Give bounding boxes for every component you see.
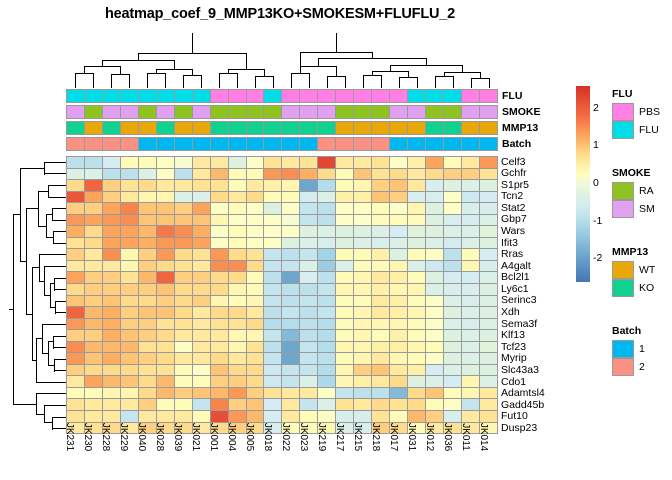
heatmap-cell <box>408 376 426 387</box>
heatmap-cell <box>175 411 193 422</box>
heatmap-cell <box>390 330 408 341</box>
heatmap-cell <box>354 342 372 353</box>
heatmap-cell <box>426 203 444 214</box>
annotation-cell <box>229 138 247 150</box>
dendrogram-segment <box>13 214 21 215</box>
heatmap-cell <box>67 376 85 387</box>
heatmap-cell <box>211 157 229 168</box>
annotation-cell <box>444 122 462 134</box>
heatmap-cell <box>67 296 85 307</box>
heatmap-cell <box>354 203 372 214</box>
dendrogram-segment <box>453 76 454 88</box>
heatmap-cell <box>211 261 229 272</box>
dendrogram-segment <box>381 75 382 88</box>
heatmap-row <box>67 157 497 169</box>
heatmap-cell <box>372 180 390 191</box>
heatmap-cell <box>229 284 247 295</box>
annotation-cell <box>264 122 282 134</box>
dendrogram-segment <box>417 77 418 88</box>
heatmap-cell <box>264 261 282 272</box>
heatmap-cell <box>175 319 193 330</box>
heatmap-cell <box>462 203 480 214</box>
heatmap-cell <box>480 365 497 376</box>
annotation-cell <box>300 138 318 150</box>
heatmap-cell <box>229 203 247 214</box>
heatmap-cell <box>318 353 336 364</box>
dendrogram-segment <box>435 76 436 88</box>
heatmap-cell <box>85 215 103 226</box>
dendrogram-segment <box>44 173 66 174</box>
heatmap-cell <box>282 192 300 203</box>
heatmap-cell <box>336 330 354 341</box>
heatmap-cell <box>139 192 157 203</box>
row-dendrogram <box>8 156 65 434</box>
heatmap-cell <box>426 272 444 283</box>
heatmap-cell <box>354 261 372 272</box>
heatmap-cell <box>67 330 85 341</box>
annotation-cell <box>336 122 354 134</box>
heatmap-cell <box>354 376 372 387</box>
sample-label: JK014 <box>478 423 489 451</box>
dendrogram-segment <box>50 307 56 308</box>
legend-swatch <box>612 182 634 200</box>
heatmap-cell <box>247 272 265 283</box>
sample-label: JK229 <box>118 423 129 451</box>
heatmap-cell <box>408 411 426 422</box>
heatmap-cell <box>247 238 265 249</box>
heatmap-cell <box>103 353 121 364</box>
legend-item[interactable]: 1 <box>612 340 645 358</box>
annotation-cell <box>121 106 139 118</box>
dendrogram-segment <box>336 66 337 77</box>
heatmap-cell <box>336 399 354 410</box>
heatmap-cell <box>462 342 480 353</box>
heatmap-cell <box>462 215 480 226</box>
heatmap-cell <box>282 319 300 330</box>
heatmap-cell <box>264 411 282 422</box>
heatmap-cell <box>480 272 497 283</box>
heatmap-cell <box>85 169 103 180</box>
sample-label-row: JK231JK230JK228JK229JK040JK028JK039JK021… <box>66 436 498 480</box>
legend-label: RA <box>639 185 654 197</box>
heatmap-cell <box>67 399 85 410</box>
heatmap-cell <box>390 411 408 422</box>
heatmap-cell <box>300 388 318 399</box>
annotation-label-batch: Batch <box>502 137 531 151</box>
legend-label: 2 <box>639 361 645 373</box>
heatmap-cell <box>444 376 462 387</box>
heatmap-cell <box>480 307 497 318</box>
heatmap-cell <box>300 157 318 168</box>
heatmap-cell <box>157 399 175 410</box>
annotation-cell <box>390 106 408 118</box>
heatmap-cell <box>121 238 139 249</box>
dendrogram-segment <box>426 58 427 66</box>
dendrogram-segment <box>36 414 45 415</box>
heatmap-cell <box>336 169 354 180</box>
heatmap-cell <box>354 226 372 237</box>
annotation-cell <box>336 90 354 102</box>
heatmap-cell <box>175 376 193 387</box>
heatmap-cell <box>462 192 480 203</box>
sample-label: JK215 <box>352 423 363 451</box>
heatmap-cell <box>336 261 354 272</box>
dendrogram-segment <box>399 77 400 88</box>
heatmap-row <box>67 307 497 319</box>
annotation-cell <box>354 138 372 150</box>
heatmap-cell <box>336 180 354 191</box>
heatmap-cell <box>175 249 193 260</box>
heatmap-cell <box>300 238 318 249</box>
heatmap-cell <box>444 169 462 180</box>
dendrogram-segment <box>44 266 66 267</box>
legend-label: SM <box>639 203 655 215</box>
heatmap-cell <box>193 272 211 283</box>
heatmap-cell <box>354 180 372 191</box>
heatmap-cell <box>139 226 157 237</box>
legend-swatch <box>612 358 634 376</box>
heatmap-cell <box>300 203 318 214</box>
dendrogram-segment <box>48 197 66 198</box>
heatmap-cell <box>408 296 426 307</box>
annotation-cell <box>318 106 336 118</box>
gene-label: A4galt <box>501 260 571 272</box>
heatmap-cell <box>229 342 247 353</box>
heatmap-cell <box>354 399 372 410</box>
heatmap-cell <box>139 365 157 376</box>
heatmap-cell <box>444 411 462 422</box>
heatmap-cell <box>336 388 354 399</box>
heatmap-cell <box>247 296 265 307</box>
heatmap-cell <box>318 215 336 226</box>
legend-item[interactable]: WT <box>612 261 655 279</box>
heatmap-cell <box>462 376 480 387</box>
heatmap-cell <box>229 353 247 364</box>
heatmap-cell <box>157 319 175 330</box>
heatmap-cell <box>157 192 175 203</box>
heatmap-cell <box>264 226 282 237</box>
heatmap-cell <box>282 169 300 180</box>
dendrogram-segment <box>48 185 66 186</box>
gene-label: S1pr5 <box>501 179 571 191</box>
dendrogram-segment <box>44 405 66 406</box>
heatmap-cell <box>157 330 175 341</box>
heatmap-cell <box>426 238 444 249</box>
heatmap-cell <box>282 226 300 237</box>
heatmap-cell <box>372 261 390 272</box>
annotation-cell <box>408 122 426 134</box>
sample-label: JK219 <box>316 423 327 451</box>
heatmap-cell <box>282 399 300 410</box>
heatmap-cell <box>426 365 444 376</box>
dendrogram-segment <box>264 69 265 77</box>
heatmap-cell <box>211 319 229 330</box>
heatmap-cell <box>264 319 282 330</box>
heatmap-cell <box>408 261 426 272</box>
dendrogram-segment <box>75 73 76 88</box>
heatmap-cell <box>318 319 336 330</box>
heatmap-cell <box>354 388 372 399</box>
heatmap-cell <box>300 342 318 353</box>
dendrogram-segment <box>219 73 220 88</box>
heatmap-cell <box>247 192 265 203</box>
heatmap-cell <box>372 215 390 226</box>
heatmap-cell <box>193 365 211 376</box>
heatmap-cell <box>139 249 157 260</box>
heatmap-cell <box>354 169 372 180</box>
heatmap-cell <box>462 399 480 410</box>
heatmap-cell <box>444 238 462 249</box>
heatmap-cell <box>121 192 139 203</box>
heatmap-cell <box>103 399 121 410</box>
heatmap-cell <box>336 296 354 307</box>
legend-item[interactable]: PBS <box>612 103 660 121</box>
heatmap-cell <box>193 238 211 249</box>
heatmap-cell <box>408 249 426 260</box>
heatmap-cell <box>157 226 175 237</box>
annotation-cell <box>139 138 157 150</box>
heatmap-cell <box>264 365 282 376</box>
heatmap-cell <box>67 169 85 180</box>
heatmap-cell <box>318 238 336 249</box>
annotation-cell <box>282 138 300 150</box>
annotation-cell <box>354 90 372 102</box>
sample-label: JK218 <box>370 423 381 451</box>
heatmap-cell <box>139 307 157 318</box>
heatmap-cell <box>229 272 247 283</box>
legend-item[interactable]: RA <box>612 182 655 200</box>
heatmap-cell <box>390 169 408 180</box>
gene-label: Myrip <box>501 353 571 365</box>
heatmap-cell <box>372 399 390 410</box>
heatmap-cell <box>175 192 193 203</box>
dendrogram-segment <box>53 231 66 232</box>
heatmap-cell <box>121 284 139 295</box>
heatmap-cell <box>354 192 372 203</box>
heatmap-cell <box>193 169 211 180</box>
legend-title: MMP13 <box>612 246 655 258</box>
annotation-label-smoke: SMOKE <box>502 105 541 119</box>
heatmap-cell <box>139 353 157 364</box>
heatmap-cell <box>426 215 444 226</box>
dendrogram-segment <box>489 78 490 88</box>
heatmap-cell <box>444 226 462 237</box>
heatmap-cell <box>408 284 426 295</box>
dendrogram-segment <box>42 353 49 354</box>
heatmap-cell <box>85 284 103 295</box>
heatmap-cell <box>121 411 139 422</box>
heatmap-cell <box>121 215 139 226</box>
sample-label: JK228 <box>100 423 111 451</box>
heatmap-cell <box>462 169 480 180</box>
heatmap-cell <box>247 365 265 376</box>
heatmap-cell <box>175 238 193 249</box>
heatmap-cell <box>426 353 444 364</box>
heatmap-cell <box>480 342 497 353</box>
heatmap-cell <box>85 388 103 399</box>
heatmap-cell <box>67 307 85 318</box>
heatmap-cell <box>139 399 157 410</box>
heatmap-cell <box>121 203 139 214</box>
annotation-cell <box>372 106 390 118</box>
heatmap-cell <box>67 192 85 203</box>
legend-smoke: SMOKERASM <box>612 167 655 218</box>
heatmap-cell <box>103 342 121 353</box>
annotation-cell <box>282 106 300 118</box>
heatmap-cell <box>175 399 193 410</box>
dendrogram-segment <box>38 226 47 227</box>
dendrogram-segment <box>183 75 184 88</box>
annotation-cell <box>211 106 229 118</box>
annotation-row-mmp13 <box>66 121 498 135</box>
gene-label-column: Celf3GchfrS1pr5Tcn2Stat2Gbp7WarsIfit3Rra… <box>501 156 571 434</box>
heatmap-cell <box>282 330 300 341</box>
heatmap-cell <box>444 180 462 191</box>
heatmap-cell <box>300 353 318 364</box>
heatmap-cell <box>390 319 408 330</box>
dendrogram-segment <box>174 60 175 70</box>
annotation-cell <box>372 90 390 102</box>
dendrogram-segment <box>52 220 66 221</box>
heatmap-cell <box>67 272 85 283</box>
sample-label: JK004 <box>226 423 237 451</box>
heatmap-cell <box>390 353 408 364</box>
heatmap-cell <box>247 180 265 191</box>
legend-item[interactable]: SM <box>612 200 655 218</box>
dendrogram-segment <box>390 65 391 72</box>
dendrogram-segment <box>156 69 157 74</box>
heatmap-cell <box>157 249 175 260</box>
heatmap-cell <box>264 342 282 353</box>
heatmap-cell <box>139 296 157 307</box>
heatmap-cell <box>372 388 390 399</box>
gene-label: Xdh <box>501 307 571 319</box>
dendrogram-segment <box>39 281 45 282</box>
dendrogram-segment <box>255 76 256 88</box>
annotation-cell <box>175 106 193 118</box>
annotation-cell <box>157 106 175 118</box>
annotation-cell <box>211 122 229 134</box>
dendrogram-segment <box>38 191 39 227</box>
heatmap-cell <box>193 330 211 341</box>
heatmap-cell <box>211 284 229 295</box>
legend-item[interactable]: KO <box>612 279 655 297</box>
heatmap-cell <box>85 307 103 318</box>
heatmap-cell <box>67 261 85 272</box>
heatmap-cell <box>408 226 426 237</box>
heatmap-cell <box>390 203 408 214</box>
gene-label: Gadd45b <box>501 399 571 411</box>
legend-item[interactable]: FLU <box>612 121 660 139</box>
heatmap-cell <box>336 192 354 203</box>
heatmap-cell <box>282 376 300 387</box>
heatmap-cell <box>85 261 103 272</box>
heatmap-cell <box>336 319 354 330</box>
annotation-cell <box>85 106 103 118</box>
heatmap-cell <box>175 365 193 376</box>
sample-label: JK011 <box>460 423 471 451</box>
heatmap-cell <box>67 238 85 249</box>
heatmap-row <box>67 249 497 261</box>
heatmap-cell <box>408 307 426 318</box>
heatmap-row <box>67 342 497 354</box>
heatmap-cell <box>336 365 354 376</box>
gene-label: Celf3 <box>501 156 571 168</box>
annotation-cell <box>193 122 211 134</box>
gene-label: Cdo1 <box>501 376 571 388</box>
annotation-cell <box>426 138 444 150</box>
dendrogram-segment <box>93 73 94 88</box>
heatmap-cell <box>121 272 139 283</box>
heatmap-row <box>67 319 497 331</box>
annotation-cell <box>67 90 85 102</box>
heatmap-cell <box>229 365 247 376</box>
heatmap-cell <box>211 272 229 283</box>
heatmap-cell <box>193 342 211 353</box>
heatmap-cell <box>264 272 282 283</box>
heatmap-cell <box>372 296 390 307</box>
heatmap-cell <box>211 169 229 180</box>
heatmap-cell <box>354 411 372 422</box>
heatmap-cell <box>175 215 193 226</box>
legend-item[interactable]: 2 <box>612 358 645 376</box>
heatmap-cell <box>103 203 121 214</box>
sample-label: JK012 <box>424 423 435 451</box>
heatmap-cell <box>193 399 211 410</box>
heatmap-cell <box>247 215 265 226</box>
annotation-cell <box>318 90 336 102</box>
dendrogram-segment <box>120 66 121 75</box>
gene-label: Stat2 <box>501 202 571 214</box>
heatmap-cell <box>354 353 372 364</box>
heatmap-cell <box>193 261 211 272</box>
heatmap-cell <box>193 376 211 387</box>
heatmap-cell <box>390 365 408 376</box>
heatmap-cell <box>372 342 390 353</box>
heatmap-cell <box>229 180 247 191</box>
legend-title: Batch <box>612 325 645 337</box>
heatmap-cell <box>318 307 336 318</box>
heatmap-cell <box>175 353 193 364</box>
heatmap-cell <box>318 169 336 180</box>
sample-label: JK028 <box>154 423 165 451</box>
heatmap-row <box>67 238 497 250</box>
heatmap-cell <box>157 203 175 214</box>
annotation-cell <box>247 106 265 118</box>
annotation-label-mmp13: MMP13 <box>502 121 538 135</box>
heatmap-cell <box>318 296 336 307</box>
heatmap-cell <box>121 226 139 237</box>
heatmap-cell <box>390 249 408 260</box>
dendrogram-segment <box>345 76 346 88</box>
heatmap-cell <box>462 319 480 330</box>
heatmap-cell <box>139 169 157 180</box>
heatmap-cell <box>444 272 462 283</box>
heatmap-cell <box>426 399 444 410</box>
heatmap-cell <box>139 272 157 283</box>
dendrogram-segment <box>36 382 66 383</box>
heatmap-cell <box>103 157 121 168</box>
heatmap-cell <box>426 157 444 168</box>
heatmap-cell <box>85 203 103 214</box>
annotation-cell <box>211 90 229 102</box>
heatmap-cell <box>175 272 193 283</box>
heatmap-cell <box>264 284 282 295</box>
heatmap-cell <box>139 261 157 272</box>
heatmap-cell <box>175 307 193 318</box>
annotation-cell <box>67 138 85 150</box>
dendrogram-segment <box>54 370 66 371</box>
